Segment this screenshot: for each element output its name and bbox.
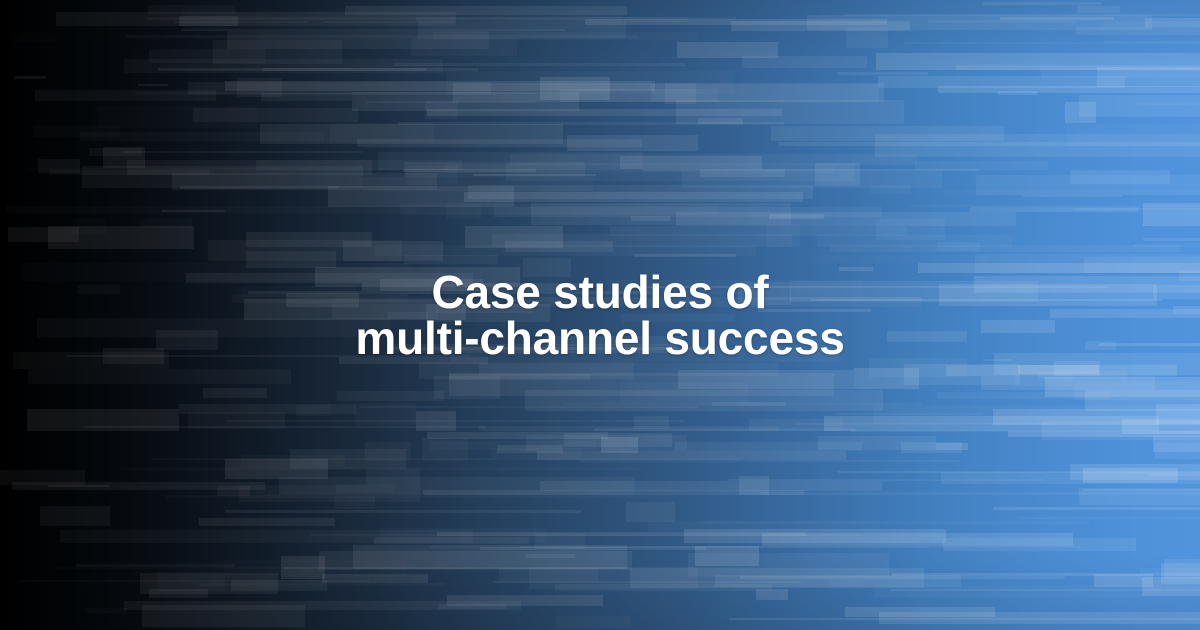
title-line-2: multi-channel success — [355, 315, 844, 361]
title-line-1: Case studies of — [432, 269, 769, 315]
title-block: Case studies of multi-channel success — [0, 0, 1200, 630]
banner-card: Case studies of multi-channel success — [0, 0, 1200, 630]
